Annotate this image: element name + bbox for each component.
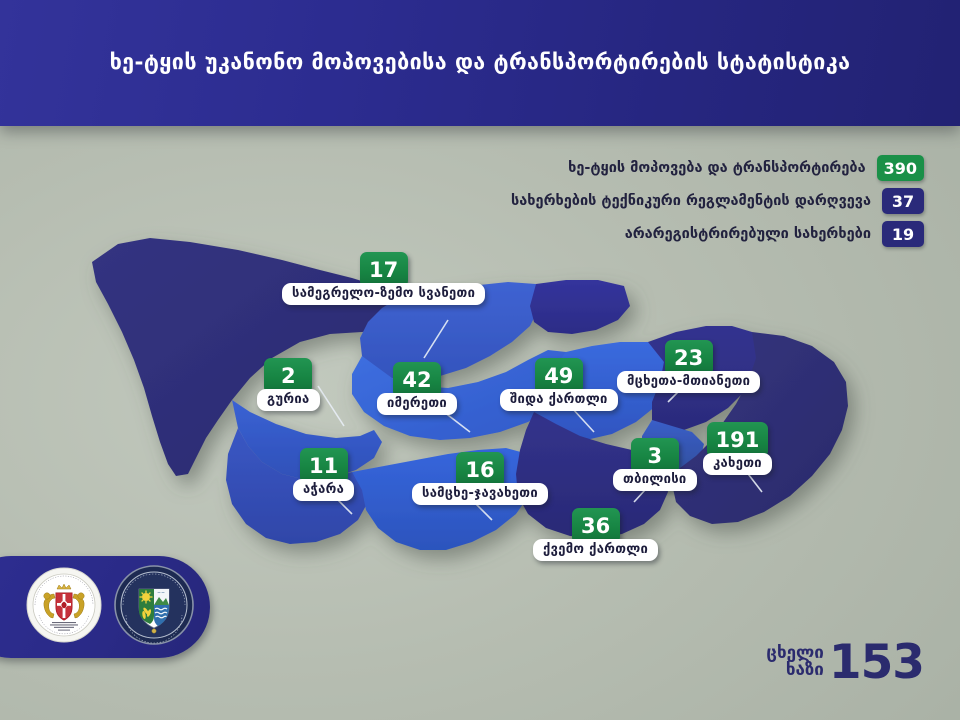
region-name-label: ქვემო ქართლი	[533, 539, 658, 561]
hotline-word-line2: ხაზი	[786, 662, 824, 679]
region-callout-samegrelo-zemo-svaneti: 17 სამეგრელო-ზემო სვანეთი	[282, 252, 485, 305]
legend-value-badge: 390	[877, 155, 924, 181]
legend-item: ხე-ტყის მოპოვება და ტრანსპორტირება 390	[511, 155, 924, 181]
legend-label: ხე-ტყის მოპოვება და ტრანსპორტირება	[568, 160, 866, 176]
legend-value-badge: 37	[882, 188, 924, 214]
region-name-label: მცხეთა-მთიანეთი	[617, 371, 760, 393]
region-callout-shida-kartli: 49 შიდა ქართლი	[500, 358, 618, 411]
region-callout-kvemo-kartli: 36 ქვემო ქართლი	[533, 508, 658, 561]
region-name-label: სამეგრელო-ზემო სვანეთი	[282, 283, 485, 305]
page-title: ხე-ტყის უკანონო მოპოვებისა და ტრანსპორტი…	[0, 50, 960, 75]
header-banner: ხე-ტყის უკანონო მოპოვებისა და ტრანსპორტი…	[0, 0, 960, 126]
region-name-label: აჭარა	[293, 479, 354, 501]
region-name-label: შიდა ქართლი	[500, 389, 618, 411]
region-name-label: გურია	[257, 389, 320, 411]
leader-line-guria	[318, 386, 344, 426]
region-callout-imereti: 42 იმერეთი	[377, 362, 457, 415]
region-callout-tbilisi: 3 თბილისი	[613, 438, 697, 491]
map-region-racha-lechkhumi	[530, 280, 630, 334]
region-name-label: სამცხე-ჯავახეთი	[412, 483, 548, 505]
ministry-of-environment-coat-of-arms-icon	[26, 567, 102, 647]
region-name-label: იმერეთი	[377, 393, 457, 415]
legend-item: არარეგისტრირებული სახერხები 19	[511, 221, 924, 247]
legend: ხე-ტყის მოპოვება და ტრანსპორტირება 390 ს…	[511, 155, 924, 254]
environmental-supervision-shield-icon	[114, 565, 194, 649]
legend-label: არარეგისტრირებული სახერხები	[625, 226, 871, 242]
hotline-words: ცხელი ხაზი	[766, 645, 824, 680]
region-callout-mtskheta-mtianeti: 23 მცხეთა-მთიანეთი	[617, 340, 760, 393]
logo-bar	[0, 556, 210, 658]
infographic-poster: ხე-ტყის უკანონო მოპოვებისა და ტრანსპორტი…	[0, 0, 960, 720]
region-callout-guria: 2 გურია	[257, 358, 320, 411]
legend-value-badge: 19	[882, 221, 924, 247]
hotline-number: 153	[829, 641, 924, 684]
region-name-label: კახეთი	[703, 453, 772, 475]
legend-item: სახერხების ტექნიკური რეგლამენტის დარღვევ…	[511, 188, 924, 214]
legend-label: სახერხების ტექნიკური რეგლამენტის დარღვევ…	[511, 193, 871, 209]
region-callout-samtskhe-javakheti: 16 სამცხე-ჯავახეთი	[412, 452, 548, 505]
region-callout-adjara: 11 აჭარა	[293, 448, 354, 501]
region-callout-kakheti: 191 კახეთი	[703, 422, 772, 475]
hotline: ცხელი ხაზი 153	[766, 641, 924, 684]
region-name-label: თბილისი	[613, 469, 697, 491]
